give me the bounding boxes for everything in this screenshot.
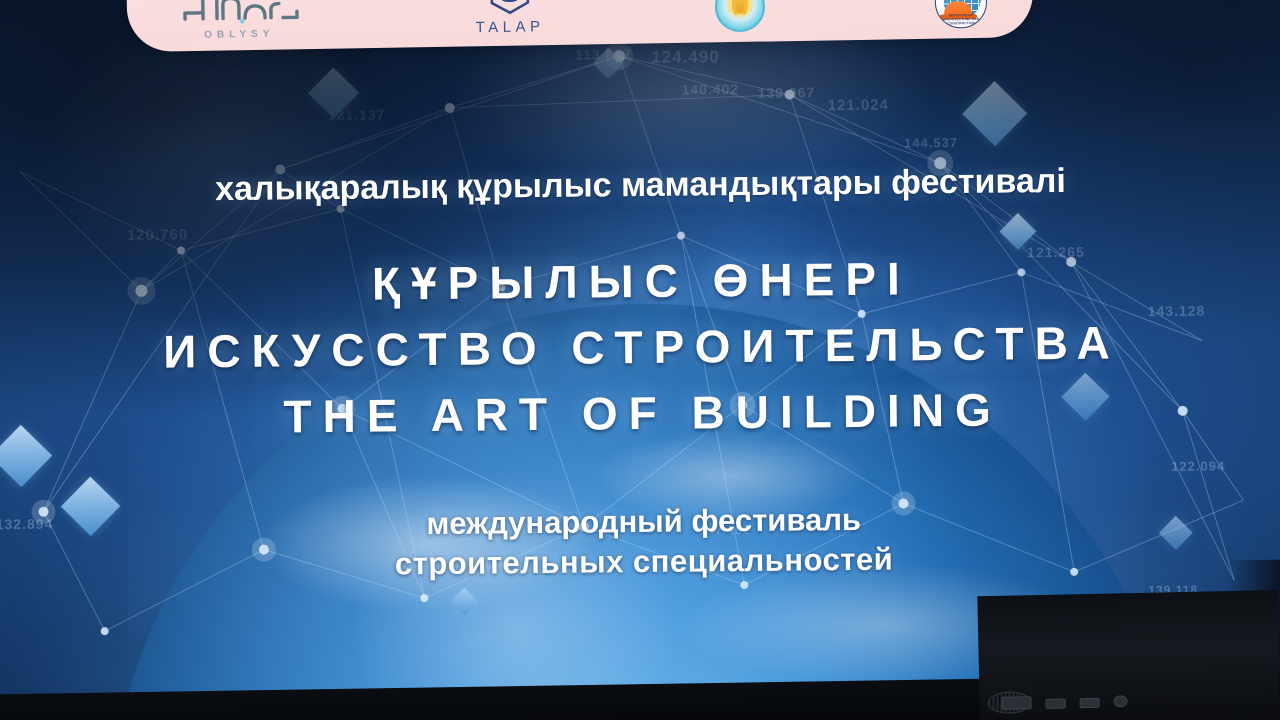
laptop-device-bottom-right — [977, 590, 1280, 720]
photo-of-presentation-screen: 124.490140.402139.067113.887121.024144.5… — [0, 0, 1280, 720]
institute-caption: INSTITUTE OF ARCHITECTURE AND CONSTRUCTI… — [936, 13, 986, 26]
abai-script-mark — [173, 0, 306, 25]
talap-wordmark: TALAP — [475, 18, 544, 36]
construction-institute-logo: INSTITUTE OF ARCHITECTURE AND CONSTRUCTI… — [934, 0, 987, 29]
device-ports — [1001, 694, 1127, 710]
usb-c-port — [1079, 698, 1099, 708]
kazakhstan-emblem-logo — [714, 0, 765, 32]
talap-logo: TALAP — [475, 0, 545, 36]
hdmi-port — [1046, 698, 1066, 708]
kazakhstan-circular-emblem-icon — [714, 0, 765, 32]
audio-jack-port — [1113, 695, 1127, 707]
talap-hexagon-icon — [487, 0, 532, 15]
abai-oblysy-logo: OBLYSY — [173, 0, 306, 41]
usb-port — [1001, 696, 1031, 710]
abai-logo-subtitle: OBLYSY — [204, 29, 274, 41]
globe-hardhat-emblem-icon: INSTITUTE OF ARCHITECTURE AND CONSTRUCTI… — [934, 0, 987, 29]
